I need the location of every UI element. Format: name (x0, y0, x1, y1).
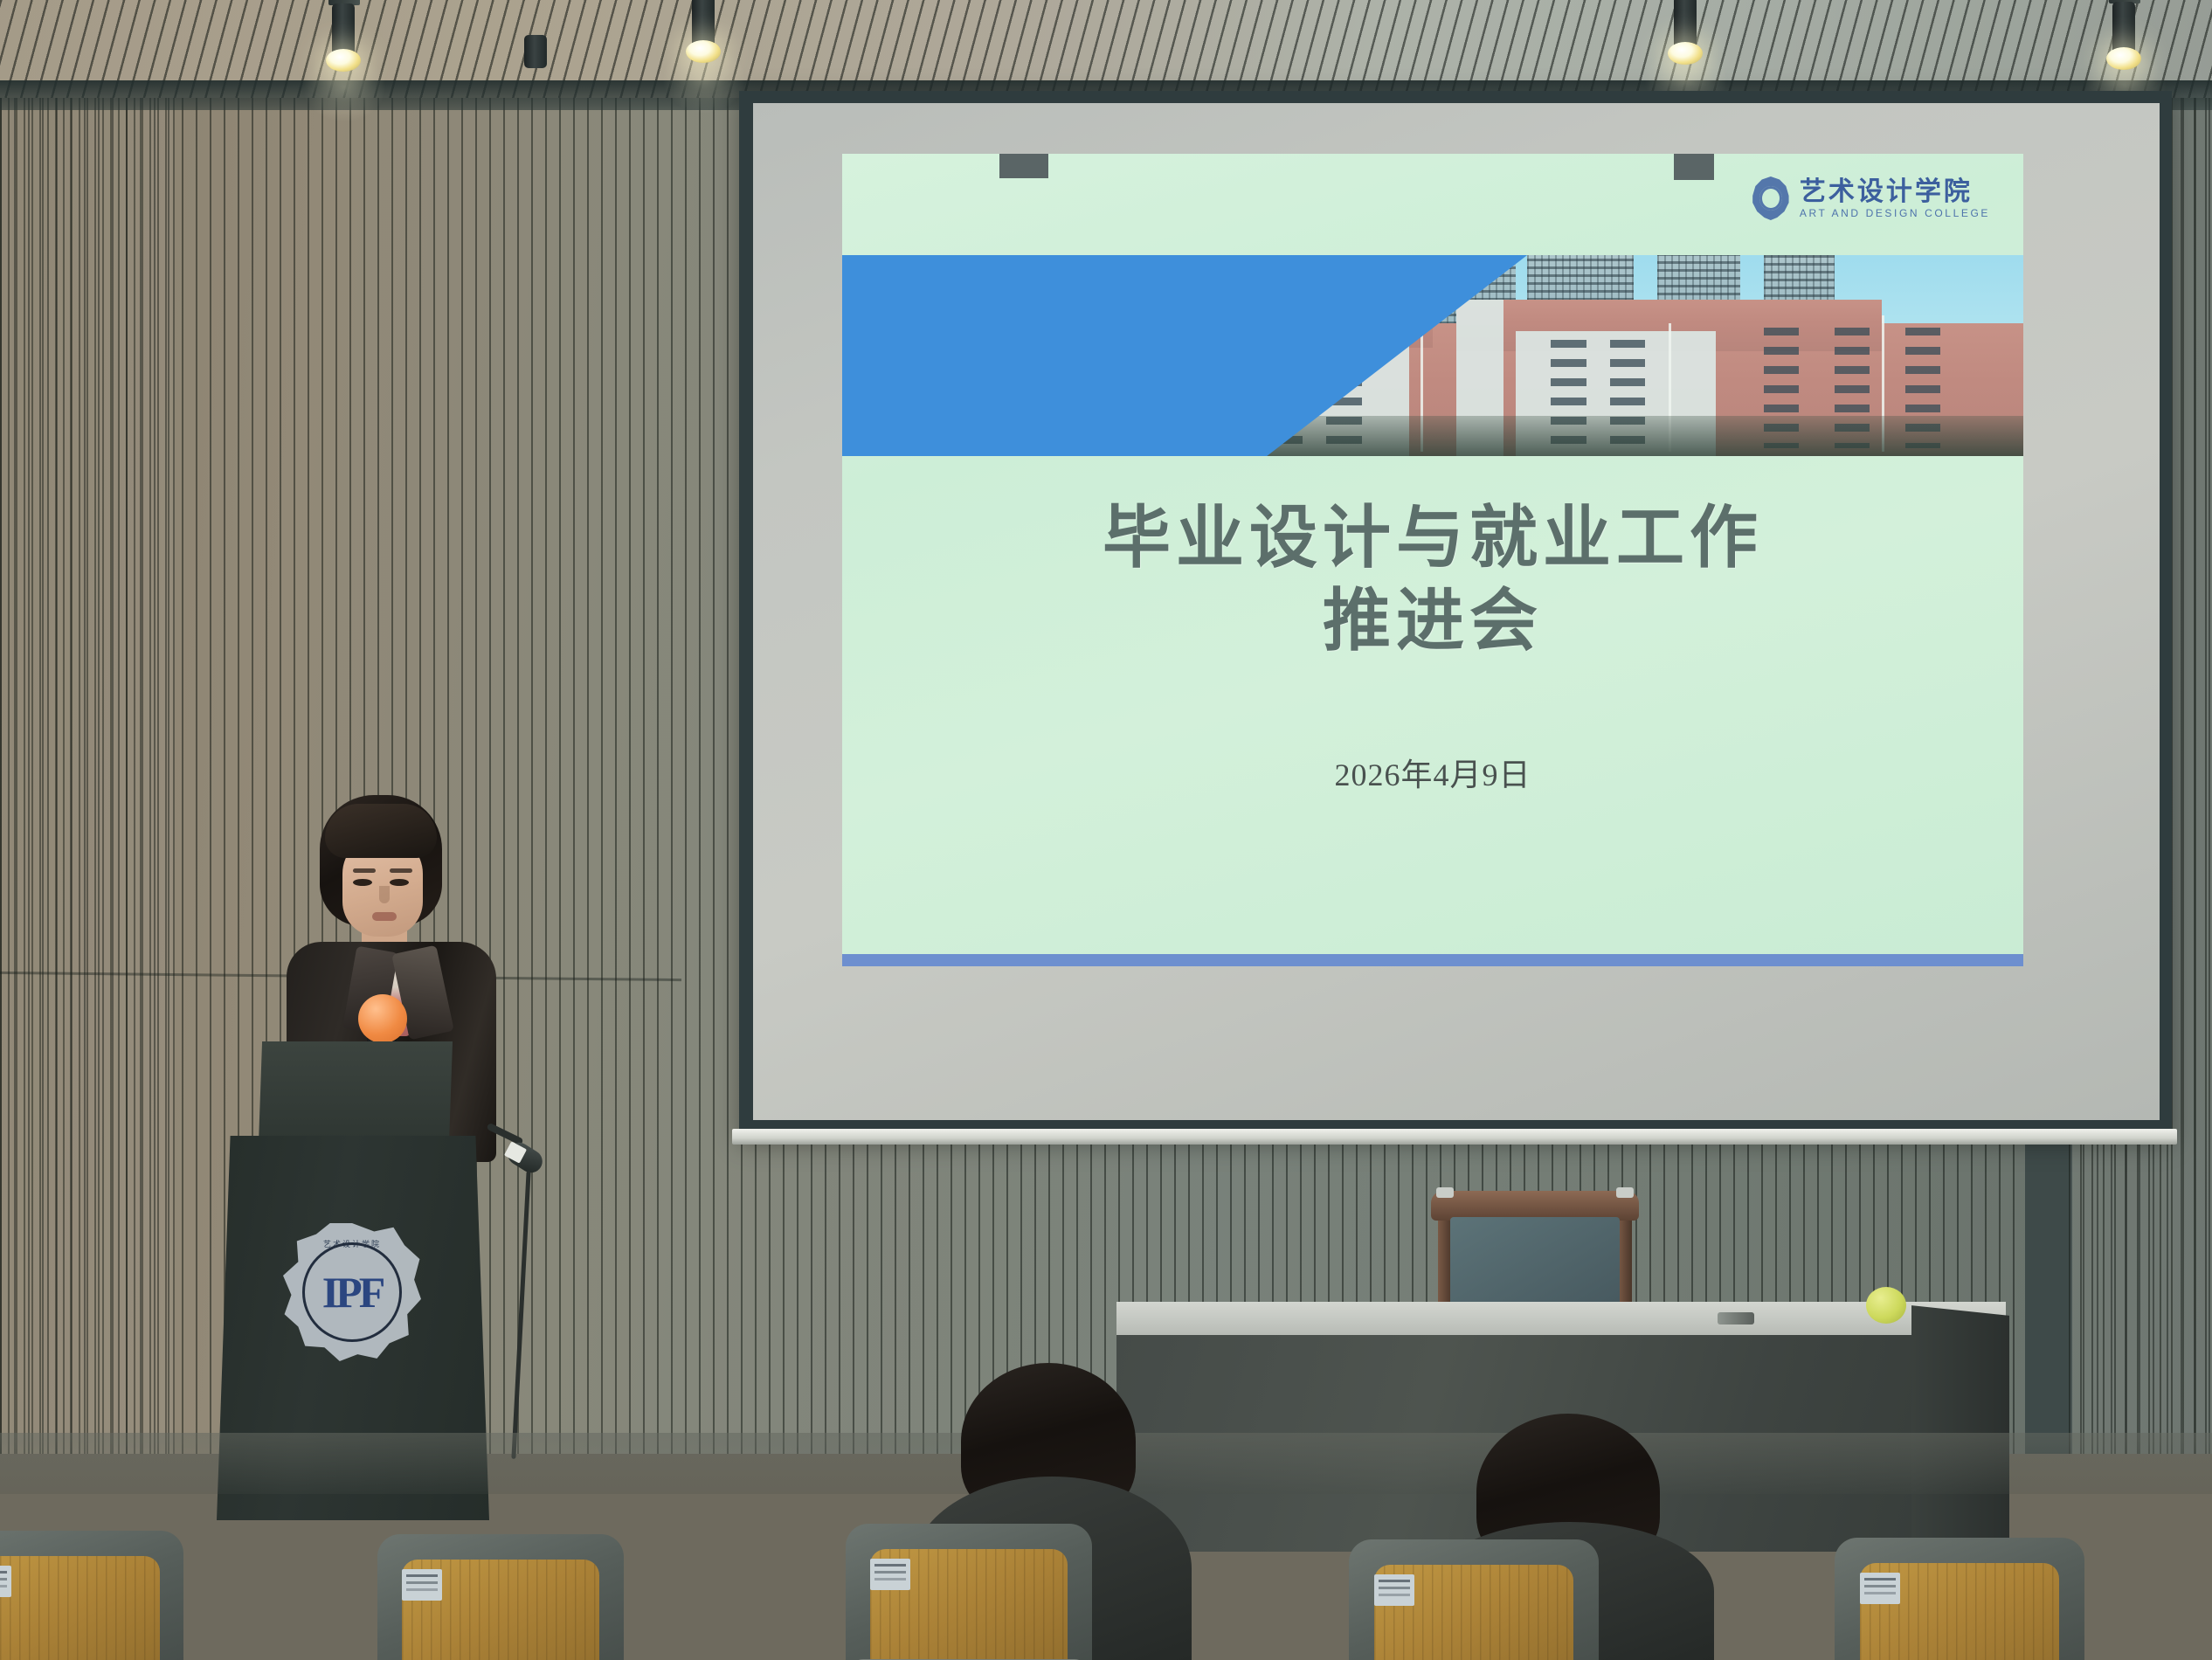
table-small-object (1718, 1312, 1754, 1325)
seat-number-label (870, 1559, 910, 1590)
auditorium-seat[interactable] (1835, 1538, 2084, 1660)
auditorium-seat[interactable] (1349, 1539, 1599, 1660)
chair-cap-left (1436, 1187, 1454, 1198)
presenter-nose (379, 886, 390, 903)
chair-cap-right (1616, 1187, 1634, 1198)
presenter-eye-left (353, 879, 372, 886)
projected-slide: 艺术设计学院 ART AND DESIGN COLLEGE 毕业设计与就业工作 … (842, 154, 2023, 966)
seat-panel-grain (0, 1556, 160, 1660)
slide-notch-left (999, 154, 1048, 178)
podium-emblem: 艺术设计学院 IPF (283, 1223, 421, 1361)
light-lamp (326, 49, 361, 72)
auditorium-seat[interactable] (377, 1534, 624, 1660)
presenter-brow-right (390, 868, 412, 873)
chair-back-pad (1450, 1217, 1620, 1308)
slide-college-logo: 艺术设计学院 ART AND DESIGN COLLEGE (1751, 176, 1990, 220)
slide-title-line-1: 毕业设计与就业工作 (842, 496, 2023, 579)
logo-english-name: ART AND DESIGN COLLEGE (1800, 208, 1990, 218)
presenter-mouth (372, 912, 397, 921)
light-lamp (686, 40, 721, 63)
light-lamp (2106, 47, 2141, 70)
left-wall-panel (0, 91, 175, 1454)
projection-screen: 艺术设计学院 ART AND DESIGN COLLEGE 毕业设计与就业工作 … (739, 91, 2172, 1139)
slide-notch-right (1674, 154, 1714, 180)
presenter-brow-left (353, 868, 376, 873)
podium-desktop (259, 1041, 453, 1145)
conference-table-cloth-side (1911, 1305, 2009, 1559)
screen-bottom-weight-bar (732, 1129, 2177, 1145)
seat-number-label (1860, 1573, 1900, 1604)
slide-title: 毕业设计与就业工作 推进会 (842, 496, 2023, 662)
slide-bottom-band (842, 954, 2023, 966)
logo-names: 艺术设计学院 ART AND DESIGN COLLEGE (1800, 179, 1990, 218)
microphone-icon (358, 994, 407, 1043)
auditorium-seat[interactable] (0, 1531, 183, 1660)
seat-number-label (1374, 1574, 1414, 1606)
school-crest-icon (1751, 176, 1791, 220)
slide-title-line-2: 推进会 (842, 579, 2023, 662)
seat-back-panel (0, 1556, 160, 1660)
auditorium-seat[interactable] (846, 1524, 1092, 1660)
logo-chinese-name: 艺术设计学院 (1800, 179, 1990, 205)
emblem-monogram: IPF (322, 1267, 383, 1318)
presenter-eye-right (390, 879, 409, 886)
light-body (524, 35, 547, 68)
seat-number-label (402, 1569, 442, 1601)
presenter-hair-fringe (325, 804, 437, 858)
presentation-photo-scene: 艺术设计学院 ART AND DESIGN COLLEGE 毕业设计与就业工作 … (0, 0, 2212, 1660)
chair-crest-rail (1431, 1191, 1639, 1221)
slide-photo-band (842, 255, 2023, 456)
table-ball (1866, 1287, 1906, 1324)
presider-chair (1431, 1191, 1639, 1313)
slide-date: 2026年4月9日 (842, 750, 2023, 795)
seat-number-label (0, 1566, 11, 1597)
light-lamp (1668, 42, 1703, 65)
